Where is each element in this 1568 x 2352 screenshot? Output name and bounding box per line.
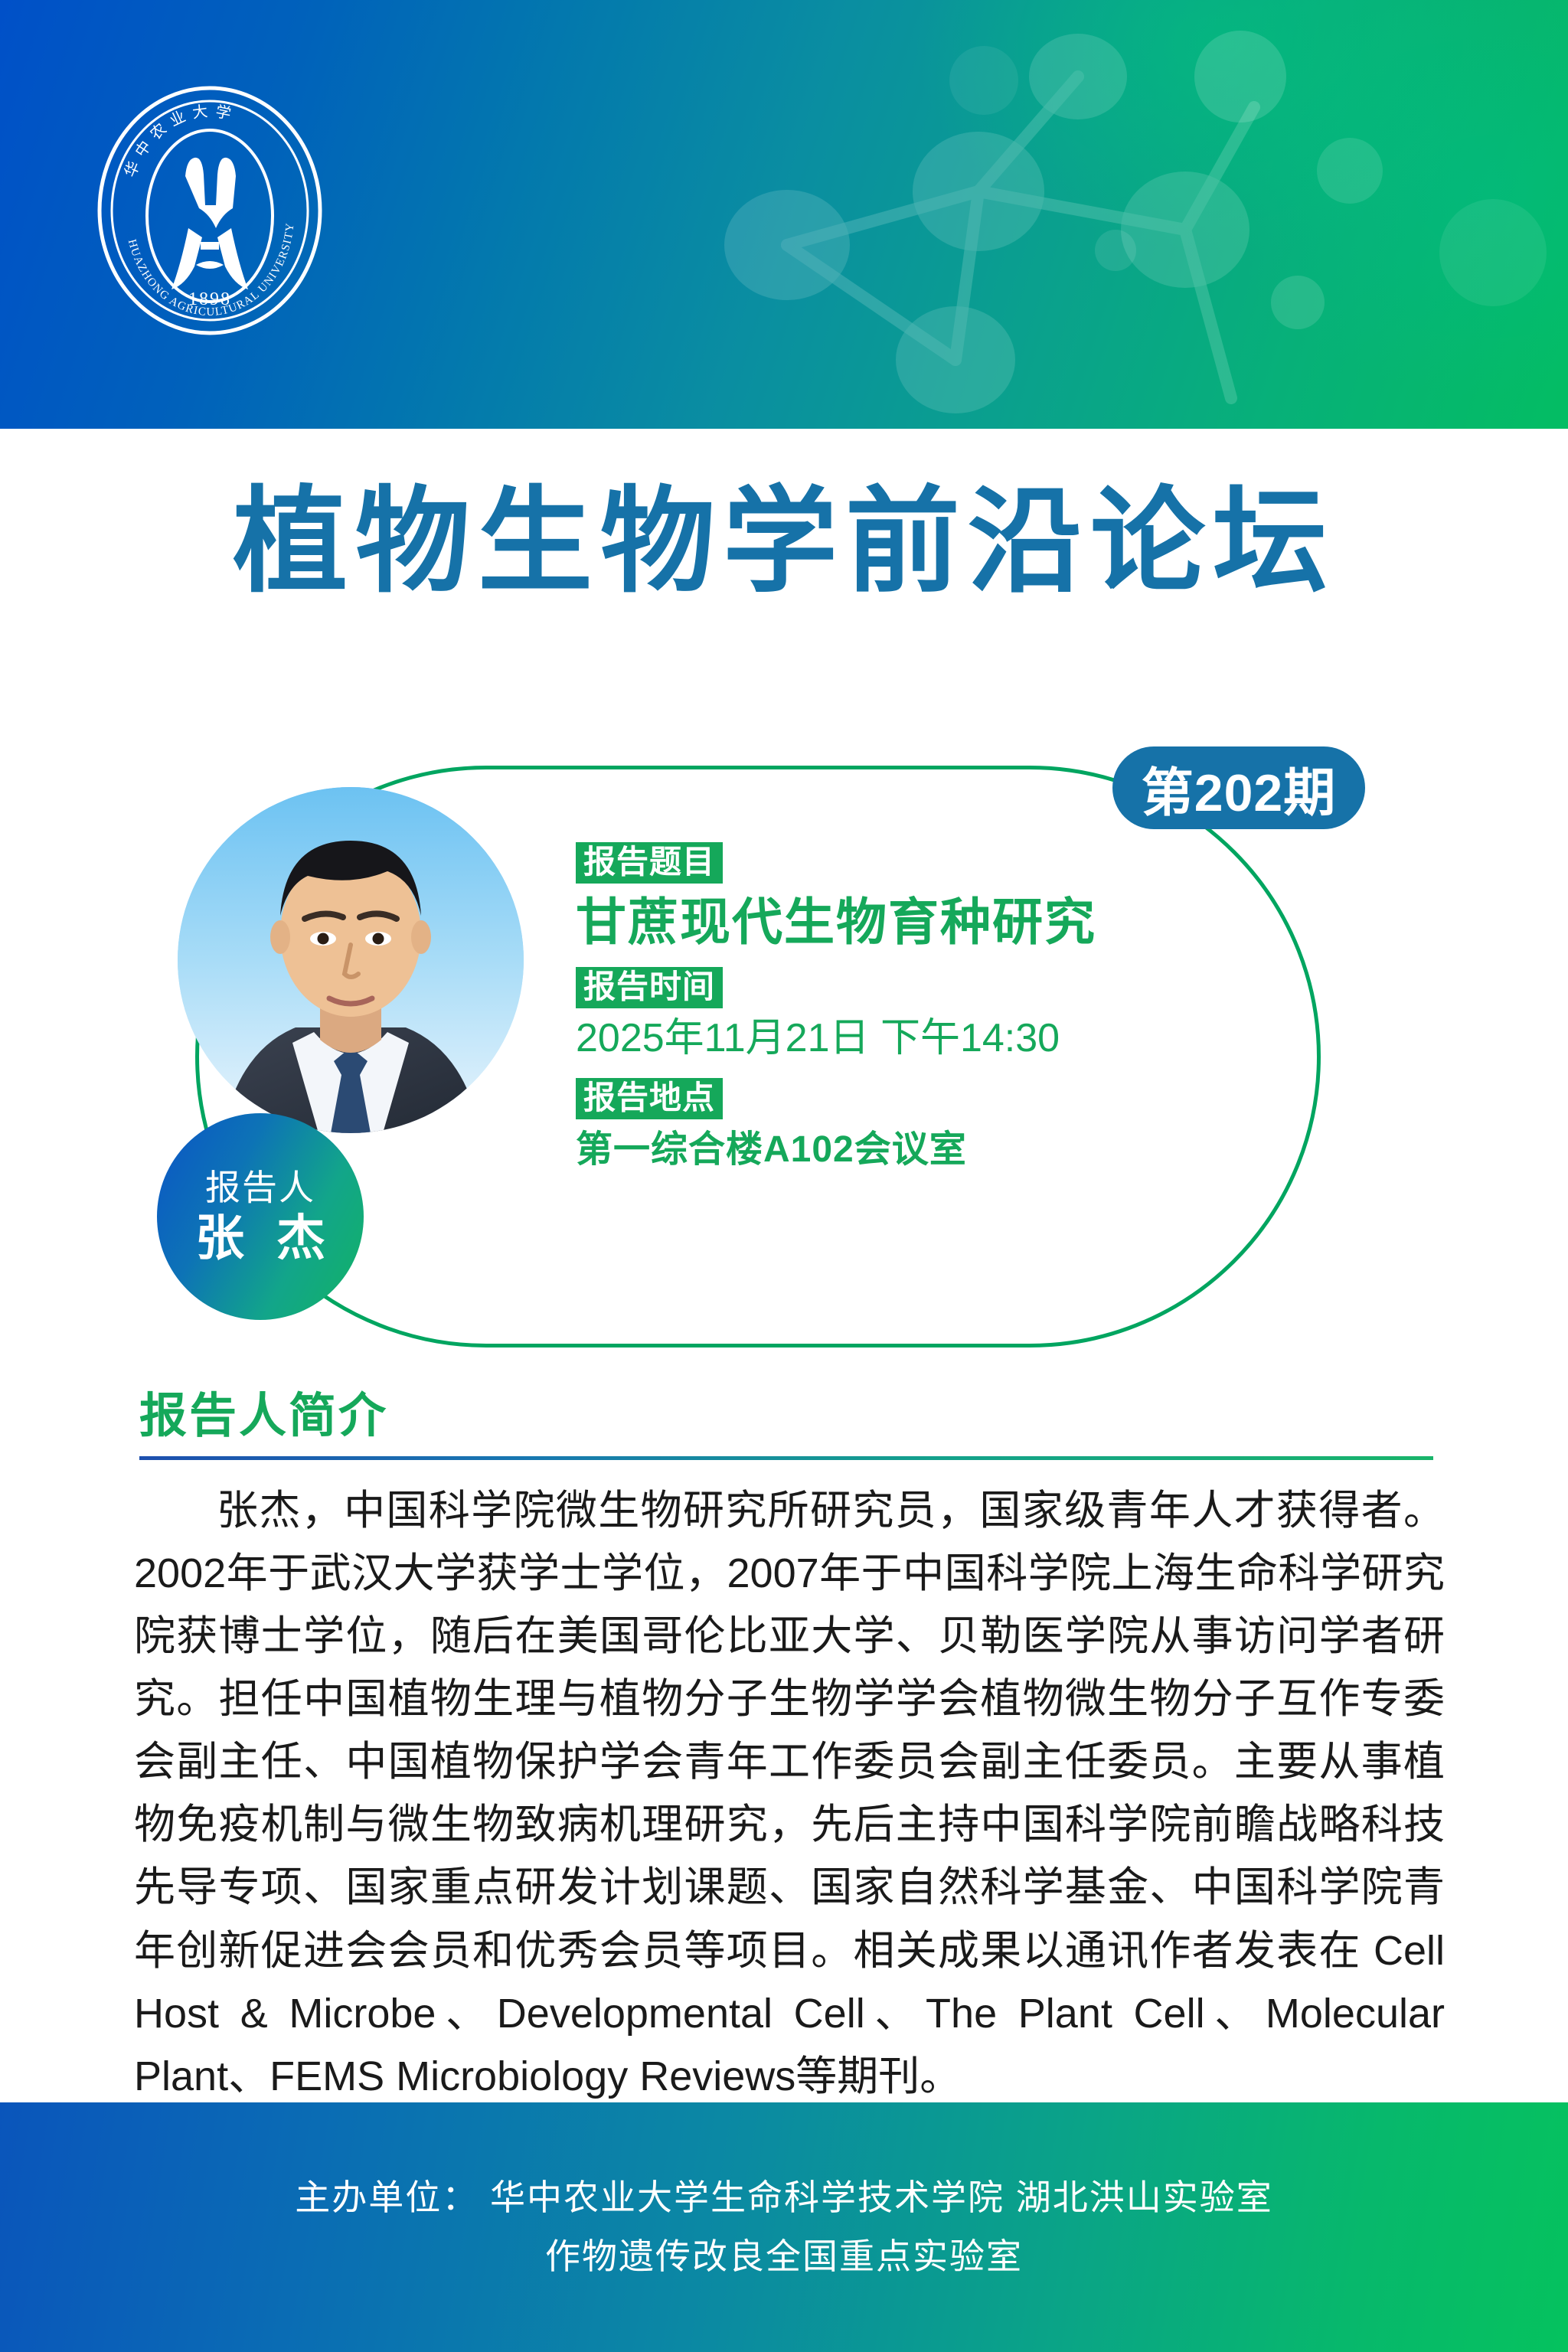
talk-place-tag: 报告地点 bbox=[576, 1078, 723, 1119]
speaker-portrait bbox=[178, 787, 524, 1133]
speaker-name: 张 杰 bbox=[186, 1211, 335, 1265]
header-banner: 1898 华 中 农 业 大 学 HUAZHONG AGRICULTURAL U… bbox=[0, 0, 1568, 429]
bio-text: 张杰，中国科学院微生物研究所研究员，国家级青年人才获得者。2002年于武汉大学获… bbox=[134, 1479, 1445, 2108]
bio-divider-top bbox=[139, 1456, 1433, 1460]
speaker-badge: 报告人 张 杰 bbox=[157, 1113, 364, 1320]
talk-place: 第一综合楼A102会议室 bbox=[576, 1129, 1341, 1171]
talk-time: 2025年11月21日 下午14:30 bbox=[576, 1016, 1341, 1062]
bokeh-circle bbox=[1271, 276, 1325, 329]
bokeh-circle bbox=[1439, 199, 1547, 306]
talk-info: 报告题目 甘蔗现代生物育种研究 报告时间 2025年11月21日 下午14:30… bbox=[576, 842, 1341, 1171]
molecule-structure-icon bbox=[649, 0, 1568, 429]
bio-heading: 报告人简介 bbox=[139, 1377, 388, 1445]
bokeh-circle bbox=[1095, 230, 1136, 271]
footer-organizer-line1: 主办单位： 华中农业大学生命科学技术学院 湖北洪山实验室 bbox=[295, 2171, 1273, 2224]
talk-title: 甘蔗现代生物育种研究 bbox=[576, 894, 1341, 950]
speaker-role-label: 报告人 bbox=[205, 1168, 315, 1207]
university-logo: 1898 华 中 农 业 大 学 HUAZHONG AGRICULTURAL U… bbox=[95, 84, 325, 337]
talk-time-tag: 报告时间 bbox=[576, 967, 723, 1008]
bokeh-circle bbox=[1194, 31, 1286, 122]
footer-banner: 主办单位： 华中农业大学生命科学技术学院 湖北洪山实验室 作物遗传改良全国重点实… bbox=[0, 2102, 1568, 2352]
bokeh-circle bbox=[1317, 138, 1383, 204]
bokeh-circle bbox=[949, 46, 1018, 115]
page-title: 植物生物学前沿论坛 bbox=[0, 484, 1568, 599]
footer-organizer-line2: 作物遗传改良全国重点实验室 bbox=[545, 2230, 1023, 2283]
talk-title-tag: 报告题目 bbox=[576, 842, 723, 884]
issue-badge: 第202期 bbox=[1112, 746, 1365, 829]
